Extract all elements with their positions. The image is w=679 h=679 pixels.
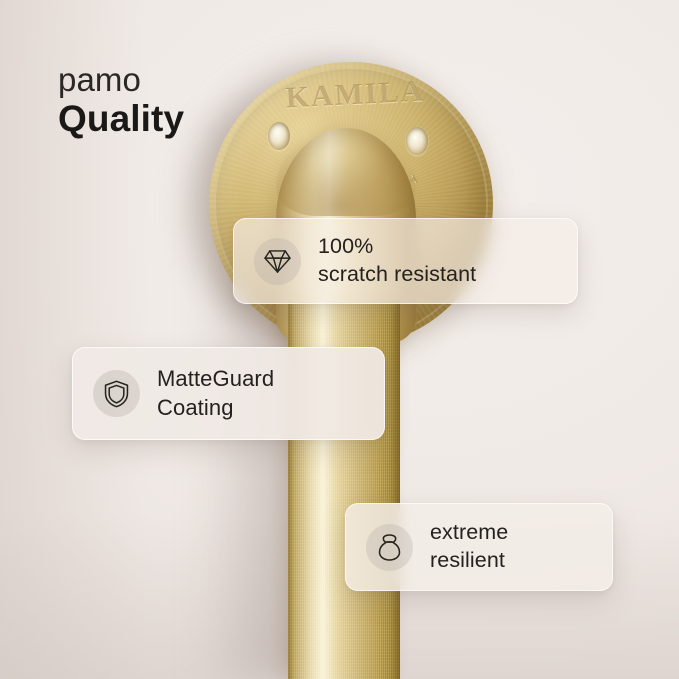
feature-line-1: 100% [318, 233, 476, 261]
title-word: Quality [58, 98, 184, 139]
feature-line-1: MatteGuard [157, 365, 274, 394]
feature-text-scratch-resistant: 100% scratch resistant [318, 233, 476, 289]
feature-text-extreme-resilient: extreme resilient [430, 519, 508, 575]
pipe-edge-right [390, 300, 400, 679]
page-title: pamo Quality [58, 62, 184, 139]
kettlebell-icon [366, 524, 413, 571]
feature-card-matteguard-coating: MatteGuard Coating [72, 347, 385, 440]
shield-icon [93, 370, 140, 417]
feature-line-2: resilient [430, 547, 508, 575]
diamond-icon [254, 238, 301, 285]
feature-card-scratch-resistant: 100% scratch resistant [233, 218, 578, 304]
feature-card-extreme-resilient: extreme resilient [345, 503, 613, 591]
feature-line-1: extreme [430, 519, 508, 547]
product-feature-banner: KAMILA L A pamo Quality 100% [0, 0, 679, 679]
screw-hole-right [406, 127, 428, 155]
feature-text-matteguard-coating: MatteGuard Coating [157, 365, 274, 422]
feature-line-2: scratch resistant [318, 261, 476, 289]
screw-hole-left [268, 122, 290, 150]
feature-line-2: Coating [157, 394, 274, 423]
brand-name: pamo [58, 62, 184, 98]
